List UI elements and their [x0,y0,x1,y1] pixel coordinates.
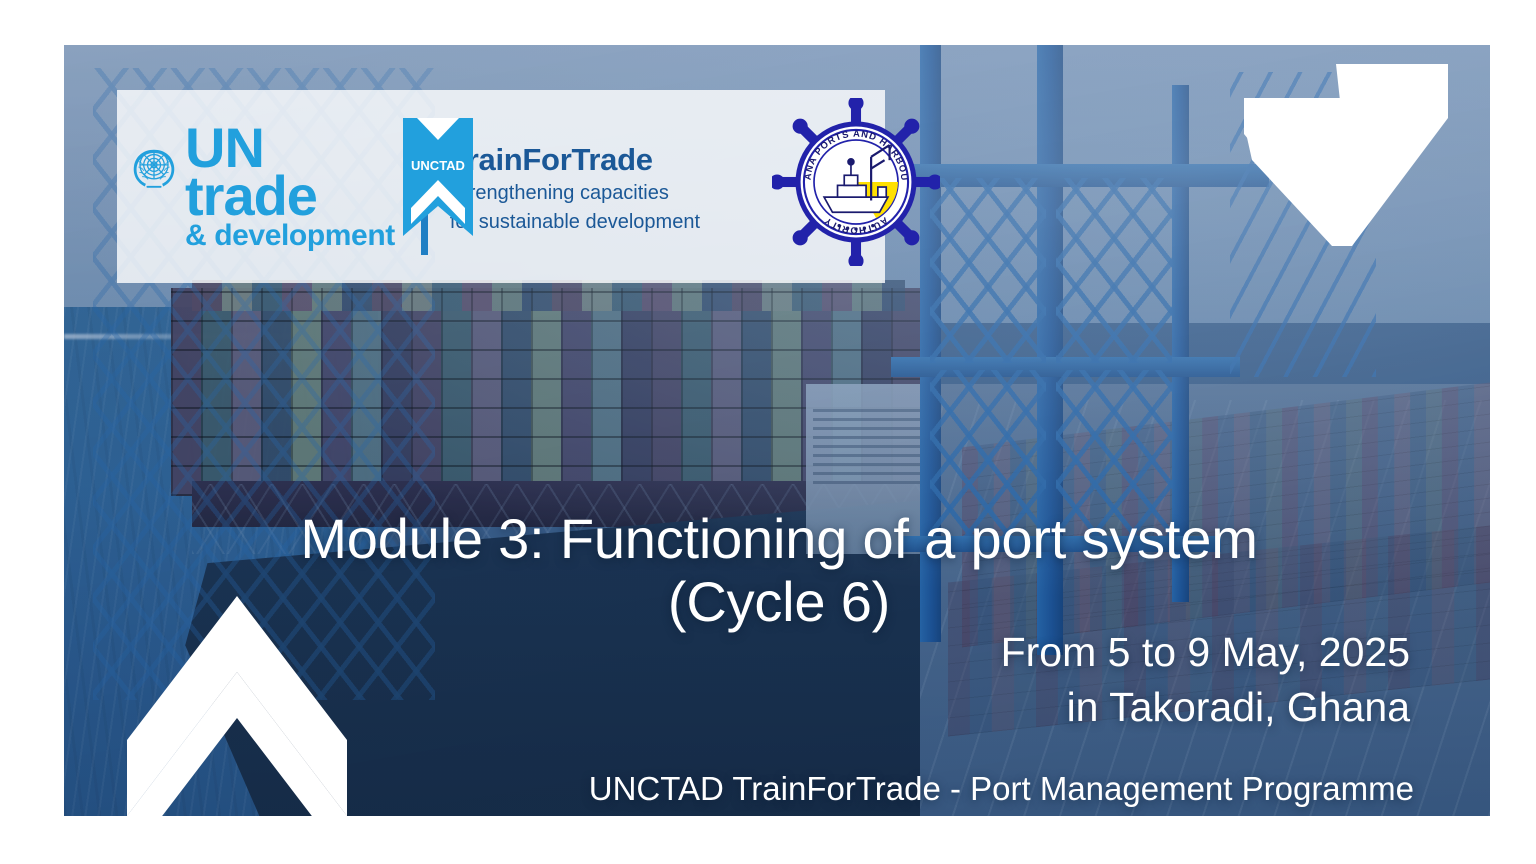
trainfortrade-subtitle-line1: Strengthening capacities [450,181,700,205]
programme-footer: UNCTAD TrainForTrade - Port Management P… [394,768,1414,809]
unctad-chevron-mark-icon: UNCTAD [403,118,473,236]
trainfortrade-lockup: TrainForTrade Strengthening capacities f… [450,139,700,235]
event-date: From 5 to 9 May, 2025 [690,625,1410,680]
slide-title-line-1: Module 3: Functioning of a port system [184,507,1374,570]
event-details: From 5 to 9 May, 2025 in Takoradi, Ghana [690,625,1410,736]
unctad-wordmark-line3: & development [185,223,395,249]
ghana-ports-authority-logo: GHANA PORTS AND HARBOURS AUTHORITY [772,98,940,266]
trainfortrade-subtitle-line2: for sustainable development [450,210,700,234]
svg-text:UNCTAD: UNCTAD [411,158,465,173]
unctad-wordmark: UN trade & development UNCTAD [185,124,395,249]
event-location: in Takoradi, Ghana [690,680,1410,735]
slide-title: Module 3: Functioning of a port system (… [184,507,1374,634]
unctad-wordmark-line2: trade [185,172,395,220]
chevron-down-icon [1244,64,1448,246]
un-emblem-icon [127,140,181,194]
unctad-logo: UN trade & development UNCTAD [117,124,395,249]
title-slide: UN trade & development UNCTAD TrainForTr… [64,45,1490,816]
logo-banner: UN trade & development UNCTAD TrainForTr… [117,90,885,283]
trainfortrade-title: TrainForTrade [450,143,700,178]
